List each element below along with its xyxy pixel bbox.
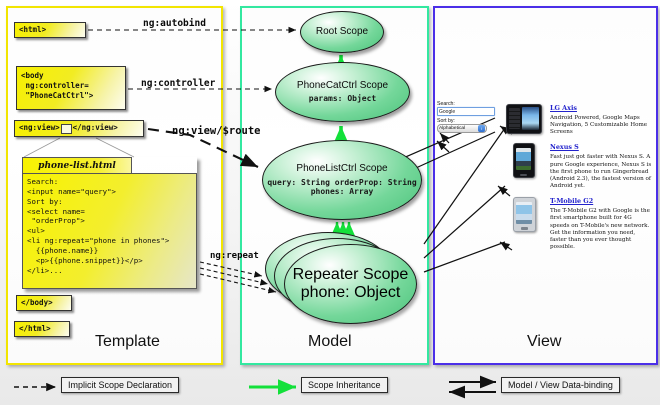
legend-item-data-binding: Model / View Data-binding — [501, 377, 620, 393]
scope-repeater: Repeater Scope phone: Object — [284, 244, 417, 324]
phone-list-file-card: phone-list.html Search: <input name="que… — [22, 157, 197, 289]
ngview-placeholder-icon — [61, 124, 72, 134]
phone-text-tmobile-g2: T-Mobile G2 The T-Mobile G2 with Google … — [544, 197, 652, 251]
sort-select[interactable]: Alphabetical ↕ — [437, 124, 487, 133]
scope-phonecatctrl-title: PhoneCatCtrl Scope — [297, 80, 388, 92]
scope-root-title: Root Scope — [316, 26, 368, 38]
list-item[interactable]: LG Axis Android Powered, Google Maps Nav… — [504, 104, 652, 136]
scope-phonecatctrl: PhoneCatCtrl Scope params: Object — [275, 62, 410, 122]
scope-repeater-props: phone: Object — [301, 284, 401, 302]
phone-name-link[interactable]: Nexus S — [550, 143, 652, 151]
label-ng-repeat: ng:repeat — [210, 251, 259, 261]
scope-phonelistctrl: PhoneListCtrl Scope query: String orderP… — [262, 140, 422, 220]
scope-phonecatctrl-props: params: Object — [309, 94, 376, 104]
ngview-tag: <ng:view></ng:view> — [14, 120, 144, 137]
scope-phonelistctrl-props: query: String orderProp: String phones: … — [263, 178, 421, 197]
phone-text-lg-axis: LG Axis Android Powered, Google Maps Nav… — [544, 104, 652, 136]
file-name-label: phone-list.html — [22, 157, 132, 174]
phone-name-link[interactable]: T-Mobile G2 — [550, 197, 652, 205]
scope-root: Root Scope — [300, 11, 384, 53]
file-source-code: Search: <input name="query"> Sort by: <s… — [27, 177, 192, 275]
phone-thumbnail-tmobile-g2 — [504, 197, 544, 251]
repeater-scope-stack: Repeater Scope phone: Object — [265, 232, 417, 324]
scope-phonelistctrl-title: PhoneListCtrl Scope — [296, 163, 387, 175]
list-item[interactable]: T-Mobile G2 The T-Mobile G2 with Google … — [504, 197, 652, 251]
body-open-tag: <body ng:controller= "PhoneCatCtrl"> — [16, 66, 126, 110]
label-ng-controller: ng:controller — [141, 78, 215, 89]
body-close-tag: </body> — [16, 295, 72, 311]
label-ng-autobind: ng:autobind — [143, 18, 206, 29]
phone-snippet: The T-Mobile G2 with Google is the first… — [550, 208, 652, 251]
phone-thumbnail-lg-axis — [504, 104, 544, 136]
phone-name-link[interactable]: LG Axis — [550, 104, 652, 112]
column-label-model: Model — [308, 333, 352, 351]
legend: Implicit Scope Declaration Scope Inherit… — [0, 368, 660, 405]
search-panel: Search: Google Sort by: Alphabetical ↕ — [437, 101, 499, 133]
phone-thumbnail-nexus-s — [504, 143, 544, 190]
html-open-tag: <html> — [14, 22, 86, 38]
column-label-view: View — [527, 333, 561, 351]
legend-item-implicit-scope-declaration: Implicit Scope Declaration — [61, 377, 179, 393]
legend-item-scope-inheritance: Scope Inheritance — [301, 377, 388, 393]
scope-repeater-title: Repeater Scope — [293, 266, 409, 284]
phone-text-nexus-s: Nexus S Fast just got faster with Nexus … — [544, 143, 652, 190]
search-input[interactable]: Google — [437, 107, 495, 116]
label-ng-view-route: ng:view/$route — [172, 125, 261, 137]
column-label-template: Template — [95, 333, 160, 351]
html-close-tag: </html> — [14, 321, 70, 337]
diagram-canvas: <html> <body ng:controller= "PhoneCatCtr… — [0, 0, 660, 405]
phone-snippet: Fast just got faster with Nexus S. A pur… — [550, 154, 652, 190]
file-body: Search: <input name="query"> Sort by: <s… — [22, 173, 197, 289]
chevron-updown-icon: ↕ — [478, 125, 485, 132]
ngview-close-label: </ng:view> — [73, 123, 118, 133]
list-item[interactable]: Nexus S Fast just got faster with Nexus … — [504, 143, 652, 190]
sort-select-value: Alphabetical — [439, 126, 465, 131]
ngview-open-label: <ng:view> — [19, 123, 60, 133]
phone-list: LG Axis Android Powered, Google Maps Nav… — [504, 104, 652, 258]
phone-snippet: Android Powered, Google Maps Navigation,… — [550, 115, 652, 136]
